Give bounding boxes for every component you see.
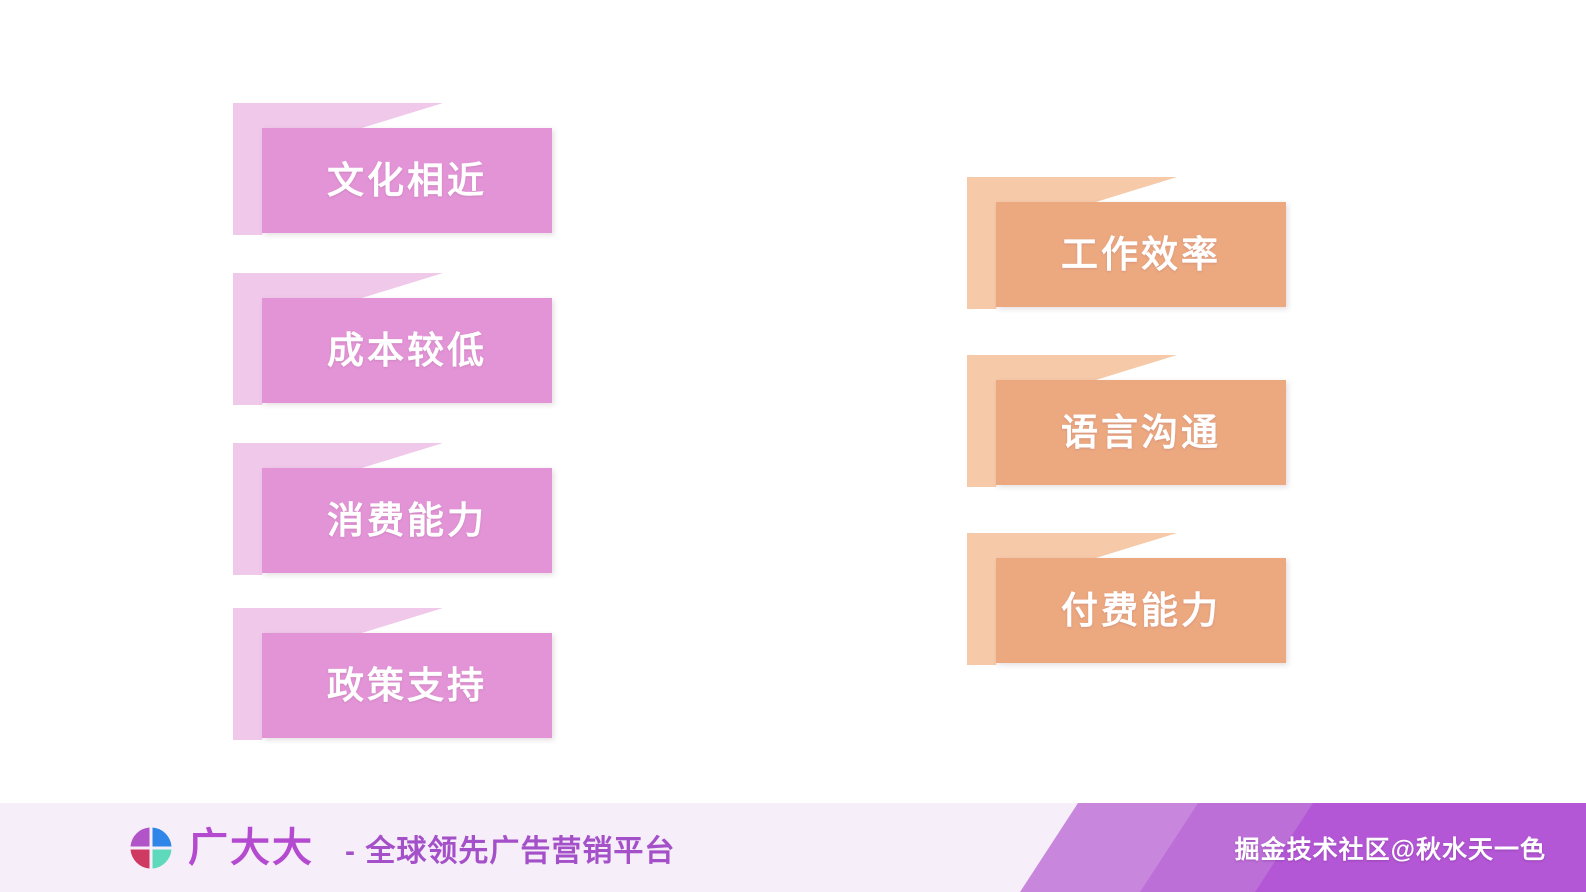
brand-name: 广大大 (188, 828, 314, 868)
chip-box[interactable]: 政策支持 (262, 633, 552, 738)
chip-label: 政策支持 (327, 667, 487, 704)
chip-pink-3[interactable]: 消费能力 (233, 443, 563, 598)
chip-box[interactable]: 工作效率 (996, 202, 1286, 307)
footer-bar: 广大大 - 全球领先广告营销平台 掘金技术社区@秋水天一色 (0, 803, 1586, 892)
content-area: 文化相近 成本较低 消费能力 政策支持 工作效率 (0, 0, 1586, 803)
slide-canvas: 文化相近 成本较低 消费能力 政策支持 工作效率 (0, 0, 1586, 892)
brand-lockup[interactable]: 广大大 (128, 803, 314, 892)
chip-label: 语言沟通 (1061, 414, 1221, 451)
chip-orange-2[interactable]: 语言沟通 (967, 355, 1297, 510)
chip-box[interactable]: 消费能力 (262, 468, 552, 573)
brand-tagline: - 全球领先广告营销平台 (345, 803, 675, 892)
chip-label: 成本较低 (327, 332, 487, 369)
chip-label: 付费能力 (1061, 592, 1221, 629)
chip-orange-3[interactable]: 付费能力 (967, 533, 1297, 688)
chip-box[interactable]: 语言沟通 (996, 380, 1286, 485)
chip-pink-4[interactable]: 政策支持 (233, 608, 563, 763)
chip-pink-1[interactable]: 文化相近 (233, 103, 563, 258)
chip-pink-2[interactable]: 成本较低 (233, 273, 563, 428)
chip-label: 消费能力 (327, 502, 487, 539)
chip-box[interactable]: 成本较低 (262, 298, 552, 403)
chip-label: 工作效率 (1061, 236, 1221, 273)
chip-box[interactable]: 文化相近 (262, 128, 552, 233)
chip-box[interactable]: 付费能力 (996, 558, 1286, 663)
chip-orange-1[interactable]: 工作效率 (967, 177, 1297, 332)
watermark-credit: 掘金技术社区@秋水天一色 (1235, 803, 1546, 892)
chip-label: 文化相近 (327, 162, 487, 199)
pinwheel-logo-icon (128, 825, 174, 871)
